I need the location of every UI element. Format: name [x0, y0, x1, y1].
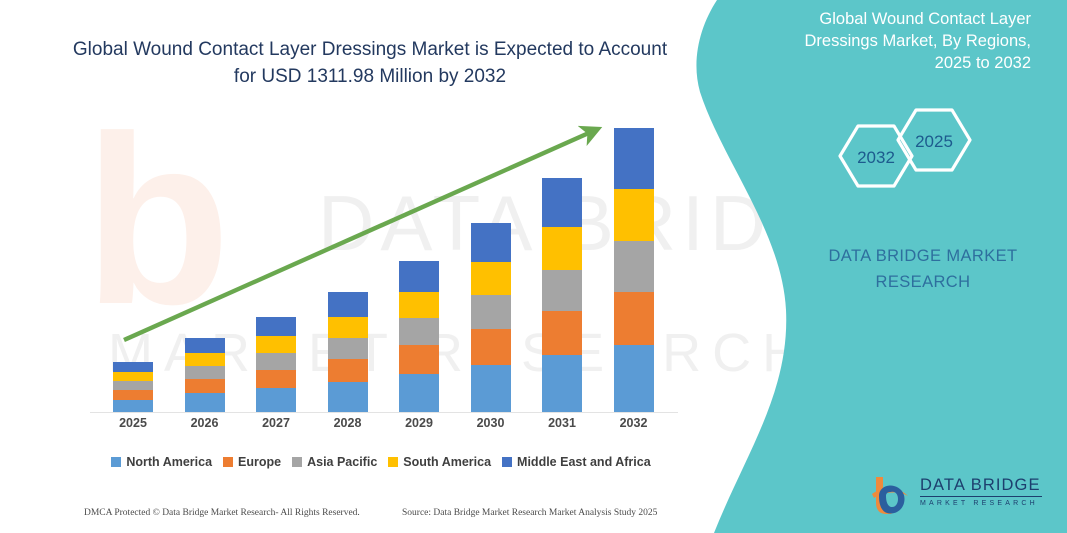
bar-2027[interactable] [256, 317, 296, 412]
legend-item-europe[interactable]: Europe [223, 455, 281, 469]
bar-segment [256, 317, 296, 336]
legend-swatch-icon [223, 457, 233, 467]
stacked-bar-chart: 20252026202720282029203020312032 [76, 110, 686, 420]
bar-segment [113, 372, 153, 381]
x-label-2027: 2027 [246, 416, 306, 430]
bar-segment [471, 262, 511, 296]
legend-item-north-america[interactable]: North America [111, 455, 212, 469]
panel-brand-line-2: RESEARCH [800, 269, 1046, 295]
page-title: Global Wound Contact Layer Dressings Mar… [70, 36, 670, 90]
bar-2030[interactable] [471, 223, 511, 412]
bar-segment [614, 241, 654, 292]
x-label-2028: 2028 [318, 416, 378, 430]
logo-text-block: DATA BRIDGE MARKET RESEARCH [920, 476, 1044, 508]
bar-segment [471, 365, 511, 412]
bar-segment [113, 381, 153, 390]
footer-copyright: DMCA Protected © Data Bridge Market Rese… [84, 508, 360, 518]
legend-label: North America [126, 455, 212, 469]
bar-segment [471, 295, 511, 329]
x-label-2030: 2030 [461, 416, 521, 430]
x-label-2032: 2032 [604, 416, 664, 430]
bar-segment [399, 345, 439, 374]
legend-swatch-icon [111, 457, 121, 467]
legend-swatch-icon [502, 457, 512, 467]
bar-segment [399, 318, 439, 345]
bar-segment [614, 292, 654, 345]
bar-segment [113, 390, 153, 400]
hexagon-group: 2032 2025 [828, 104, 988, 204]
logo-subtitle: MARKET RESEARCH [920, 499, 1044, 508]
x-label-2029: 2029 [389, 416, 449, 430]
bar-segment [256, 353, 296, 370]
bar-segment [542, 311, 582, 355]
bar-segment [256, 336, 296, 353]
legend-item-middle-east-and-africa[interactable]: Middle East and Africa [502, 455, 651, 469]
logo-b-mark [866, 474, 914, 518]
bar-2028[interactable] [328, 292, 368, 412]
bar-segment [614, 189, 654, 241]
bar-segment [185, 366, 225, 379]
x-axis-line [90, 412, 678, 413]
hex-2025: 2025 [898, 110, 970, 170]
bar-segment [113, 400, 153, 412]
x-axis-labels: 20252026202720282029203020312032 [76, 416, 686, 438]
bar-segment [399, 292, 439, 319]
legend-item-south-america[interactable]: South America [388, 455, 491, 469]
bar-2032[interactable] [614, 128, 654, 412]
bar-segment [471, 223, 511, 262]
infographic-root: b DATA BRIDGE MARKET RESEARCH Global Wou… [0, 0, 1067, 533]
legend-item-asia-pacific[interactable]: Asia Pacific [292, 455, 377, 469]
footer-source: Source: Data Bridge Market Research Mark… [402, 508, 657, 518]
bar-segment [328, 359, 368, 382]
bar-segment [542, 355, 582, 412]
bar-segment [542, 270, 582, 312]
logo-divider [920, 496, 1042, 497]
x-label-2025: 2025 [103, 416, 163, 430]
bar-segment [185, 353, 225, 366]
bar-segment [399, 261, 439, 292]
bar-segment [328, 317, 368, 338]
chart-legend: North AmericaEuropeAsia PacificSouth Ame… [76, 455, 686, 469]
legend-label: South America [403, 455, 491, 469]
bar-2031[interactable] [542, 178, 582, 412]
bar-segment [256, 370, 296, 389]
bar-segment [256, 388, 296, 412]
legend-swatch-icon [292, 457, 302, 467]
bar-segment [113, 362, 153, 373]
bar-segment [542, 178, 582, 227]
hex-2032-label: 2032 [857, 148, 895, 167]
chart-plot-area [76, 110, 686, 412]
legend-label: Asia Pacific [307, 455, 377, 469]
bar-segment [614, 345, 654, 412]
data-bridge-logo: DATA BRIDGE MARKET RESEARCH [866, 474, 1042, 518]
bar-segment [328, 292, 368, 317]
bar-segment [471, 329, 511, 365]
bar-2025[interactable] [113, 362, 153, 412]
hex-2025-label: 2025 [915, 132, 953, 151]
bar-segment [399, 374, 439, 412]
bar-segment [542, 227, 582, 269]
right-panel-title: Global Wound Contact Layer Dressings Mar… [769, 8, 1031, 74]
bar-segment [328, 382, 368, 412]
bar-segment [185, 338, 225, 353]
bar-segment [185, 393, 225, 412]
legend-label: Europe [238, 455, 281, 469]
x-label-2026: 2026 [175, 416, 235, 430]
panel-brand-line-1: DATA BRIDGE MARKET [800, 243, 1046, 269]
bar-2026[interactable] [185, 338, 225, 412]
footer-bar: DMCA Protected © Data Bridge Market Rese… [0, 508, 720, 526]
logo-title: DATA BRIDGE [920, 476, 1044, 495]
bar-2029[interactable] [399, 261, 439, 412]
bar-segment [328, 338, 368, 359]
panel-brand-block: DATA BRIDGE MARKET RESEARCH [800, 243, 1046, 295]
legend-swatch-icon [388, 457, 398, 467]
bar-segment [614, 128, 654, 189]
bar-segment [185, 379, 225, 393]
legend-label: Middle East and Africa [517, 455, 651, 469]
x-label-2031: 2031 [532, 416, 592, 430]
